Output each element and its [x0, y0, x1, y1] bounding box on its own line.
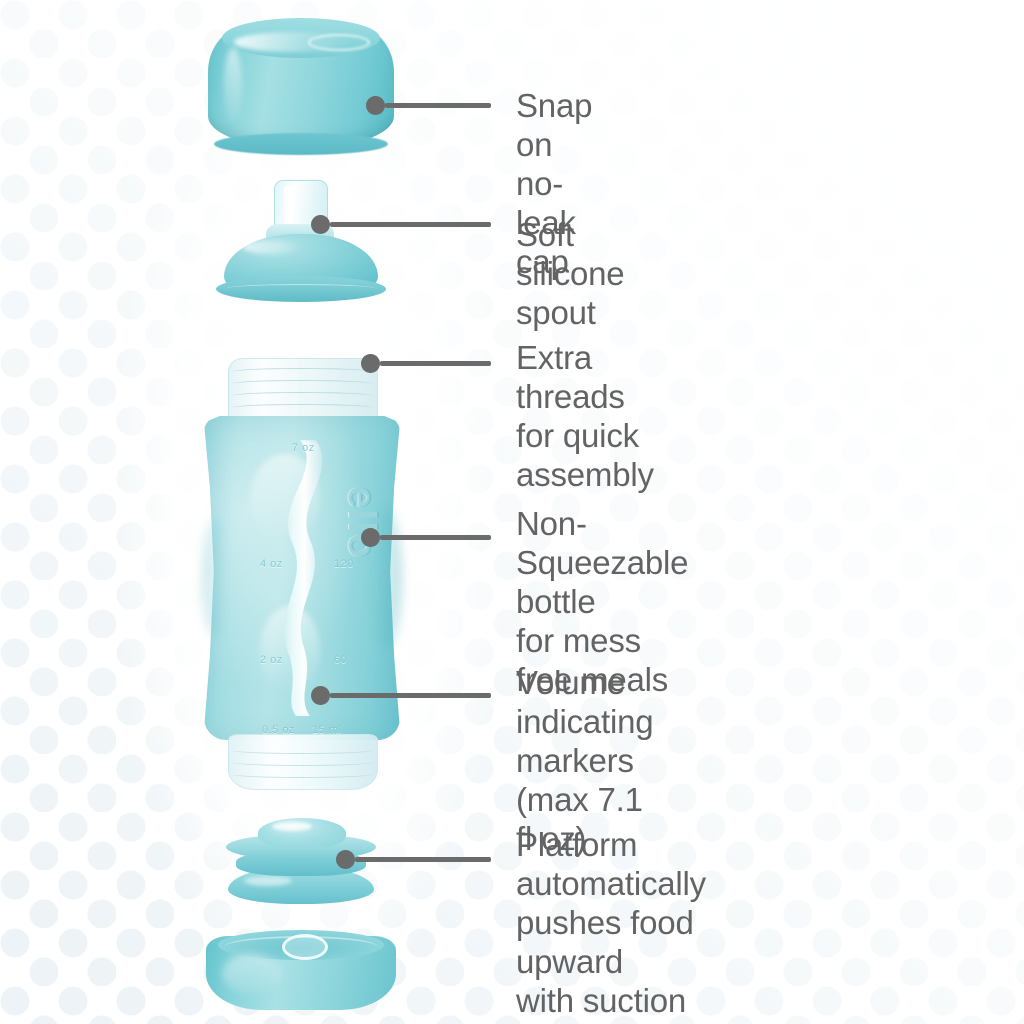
callout-line-non-squeezable [380, 535, 491, 540]
neck-thread-2 [230, 380, 374, 388]
spout-collar-highlight [226, 284, 376, 293]
spout-dome-highlight [242, 240, 304, 254]
product-part-cap [208, 18, 394, 153]
platform-skirt-highlight [244, 876, 292, 886]
emboss-120ml: 120 [334, 558, 354, 570]
callout-line-platform [355, 857, 491, 862]
product-part-suction-platform [210, 818, 392, 910]
callout-dot-volume-markers[interactable] [311, 686, 330, 705]
product-part-spout-lid [206, 180, 396, 308]
sleeve-left-shading [202, 518, 228, 638]
callout-line-cap [385, 103, 491, 108]
base-thread-3 [230, 770, 374, 778]
platform-dome-highlight [272, 822, 312, 831]
spout-nozzle-highlight [284, 186, 293, 226]
callout-label-spout: Soft silicone spout [516, 215, 624, 332]
neck-thread-3 [230, 392, 374, 400]
emboss-7oz: 7 oz [292, 442, 315, 454]
product-part-bottle: 7 oz 4 oz 120 2 oz 60 0.5 oz 15 ml ello [204, 358, 400, 794]
callout-dot-non-squeezable[interactable] [361, 528, 380, 547]
base-cap-valve-ring [282, 934, 328, 960]
callout-line-spout [330, 222, 491, 227]
product-part-base-cap [206, 930, 396, 1014]
callout-line-threads [380, 361, 491, 366]
callout-label-threads: Extra threads for quick assembly [516, 338, 654, 494]
cap-side-highlight [224, 48, 242, 124]
callout-dot-spout[interactable] [311, 215, 330, 234]
callout-dot-platform[interactable] [336, 850, 355, 869]
base-cap-highlight [222, 954, 282, 994]
callout-line-volume-markers [330, 693, 491, 698]
emboss-4oz: 4 oz [260, 558, 283, 570]
cap-bottom-rim [214, 133, 388, 155]
cap-highlight-ring [308, 34, 370, 51]
window-shadow [266, 438, 336, 720]
callout-label-platform: Platform automatically pushes food upwar… [516, 825, 706, 1020]
emboss-60ml: 60 [334, 654, 347, 666]
callout-dot-cap[interactable] [366, 96, 385, 115]
sleeve-viewing-window [266, 438, 336, 720]
emboss-2oz: 2 oz [260, 654, 283, 666]
neck-thread-4 [230, 404, 374, 412]
brand-logo-emboss: ello [339, 486, 384, 559]
base-thread-1 [230, 746, 374, 754]
base-thread-2 [230, 758, 374, 766]
callout-dot-threads[interactable] [361, 354, 380, 373]
product-diagram-stage: 7 oz 4 oz 120 2 oz 60 0.5 oz 15 ml ello … [0, 0, 1024, 1024]
neck-thread-1 [230, 368, 374, 376]
